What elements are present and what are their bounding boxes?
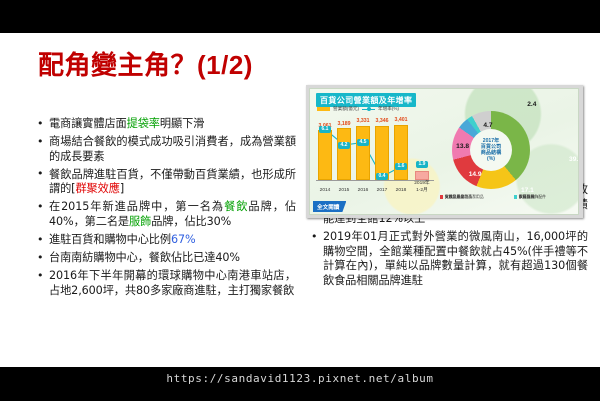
infographic-canvas: 百貨公司營業額及年增率 營業額(億元) 年增率(%) 3,0616.120143… bbox=[309, 88, 579, 215]
pie-value-label: 14.9 bbox=[469, 171, 482, 178]
bullet-text-segment: 餐飲 bbox=[224, 200, 248, 213]
pie-value-label: 2.4 bbox=[527, 101, 536, 108]
bullet-text-segment: 商場結合餐飲的模式成功吸引消費者，成為營業額的成長要素 bbox=[49, 135, 296, 163]
pie-chart-center-label: 2017年 百貨公司 商品結構 (%) bbox=[470, 129, 512, 171]
bullet-item-right-2: 2019年01月正式對外營業的微風南山，16,000坪的購物空間，全館業種配置中… bbox=[308, 230, 588, 288]
full-text-tab[interactable]: 全文閱讀 bbox=[313, 201, 346, 212]
bar-chart-plot: 3,0616.120143,1894.220153,3314.520163,34… bbox=[316, 115, 436, 193]
pie-legend-item: 化妝品及化粧清潔用品 bbox=[440, 194, 484, 199]
bar-category-label: 2018 bbox=[390, 188, 412, 193]
bar-value-label: 3,401 bbox=[388, 117, 414, 123]
growth-rate-label: 6.1 bbox=[319, 126, 331, 133]
pie-value-label: 39.0 bbox=[569, 156, 579, 163]
bar-rect bbox=[337, 128, 351, 180]
legend-swatch-growth bbox=[362, 107, 375, 111]
watermark-url: https://sandavid1123.pixnet.net/album bbox=[0, 372, 600, 385]
bullet-text-segment: 明顯下滑 bbox=[160, 117, 204, 130]
bullet-text-segment: 在2015年新進品牌中，第一名為 bbox=[49, 200, 224, 213]
pie-title-line-4: (%) bbox=[487, 156, 495, 162]
bar-rect bbox=[375, 126, 389, 180]
bar-rect bbox=[394, 125, 408, 180]
bar-rect bbox=[356, 126, 370, 180]
growth-rate-label: 4.2 bbox=[338, 142, 350, 149]
bar-chart-legend: 營業額(億元) 年增率(%) bbox=[317, 106, 399, 112]
legend-label-growth: 年增率(%) bbox=[378, 106, 399, 112]
pie-legend-label: 飲料照明 bbox=[519, 194, 535, 199]
bullet-text-segment: 品牌，佔比30% bbox=[151, 215, 231, 228]
bullet-text-segment: 電商讓實體店面 bbox=[49, 117, 127, 130]
bullet-item-left-7: 2016年下半年開幕的環球購物中心南港車站店，占地2,600坪，共80多家廠商進… bbox=[34, 269, 296, 298]
pie-value-label: 17.1 bbox=[521, 187, 534, 194]
bullet-text-segment: 67% bbox=[171, 233, 196, 246]
pie-value-label: 13.8 bbox=[456, 143, 469, 150]
bullet-text-segment: ] bbox=[120, 182, 124, 195]
growth-rate-label: 1.9 bbox=[416, 161, 428, 168]
page-title: 配角變主角？(1/2) bbox=[38, 45, 253, 82]
pie-legend-item: 飲料照明 bbox=[514, 194, 534, 199]
bullet-item-left-1: 電商讓實體店面提袋率明顯下滑 bbox=[34, 117, 296, 132]
pie-value-label: 4.7 bbox=[483, 122, 492, 129]
bullet-text-segment: 台南南紡購物中心，餐飲佔比已達40% bbox=[49, 251, 240, 264]
bullet-text-segment: 2016年下半年開幕的環球購物中心南港車站店，占地2,600坪，共80多家廠商進… bbox=[49, 269, 296, 297]
bullet-item-left-3: 餐飲品牌進駐百貨，不僅帶動百貨業績，也形成所謂的[群聚效應] bbox=[34, 168, 296, 197]
bullet-item-left-2: 商場結合餐飲的模式成功吸引消費者，成為營業額的成長要素 bbox=[34, 135, 296, 164]
legend-label-revenue: 營業額(億元) bbox=[333, 106, 359, 112]
bullet-text-segment: 提袋率 bbox=[127, 117, 160, 130]
growth-rate-label: 4.5 bbox=[357, 139, 369, 146]
presentation-slide: 配角變主角？(1/2) 電商讓實體店面提袋率明顯下滑商場結合餐飲的模式成功吸引消… bbox=[0, 33, 600, 367]
bullet-text-segment: 服飾 bbox=[129, 215, 151, 228]
bar-chart-title: 百貨公司營業額及年增率 bbox=[316, 93, 416, 107]
left-bullet-list: 電商讓實體店面提袋率明顯下滑商場結合餐飲的模式成功吸引消費者，成為營業額的成長要… bbox=[34, 117, 296, 302]
growth-rate-label: 0.4 bbox=[376, 173, 388, 180]
bullet-item-left-5: 進駐百貨和購物中心比例67% bbox=[34, 233, 296, 248]
bullet-item-left-4: 在2015年新進品牌中，第一名為餐飲品牌，佔40%，第二名是服飾品牌，佔比30% bbox=[34, 200, 296, 229]
bar-category-label: 2019年1-2月 bbox=[411, 179, 433, 193]
bar-rect bbox=[318, 130, 332, 180]
legend-swatch-revenue bbox=[317, 107, 330, 111]
bullet-text-segment: 進駐百貨和購物中心比例 bbox=[49, 233, 171, 246]
bullet-item-left-6: 台南南紡購物中心，餐飲佔比已達40% bbox=[34, 251, 296, 266]
bullet-text-segment: 2019年01月正式對外營業的微風南山，16,000坪的購物空間，全館業種配置中… bbox=[323, 230, 588, 287]
pie-legend-label: 化妝品及化粧清潔用品 bbox=[445, 194, 484, 199]
infographic-image[interactable]: 百貨公司營業額及年增率 營業額(億元) 年增率(%) 3,0616.120143… bbox=[306, 85, 583, 218]
screenshot-viewport: 配角變主角？(1/2) 電商讓實體店面提袋率明顯下滑商場結合餐飲的模式成功吸引消… bbox=[0, 0, 600, 401]
growth-rate-label: 1.6 bbox=[395, 163, 407, 170]
bullet-text-segment: 群聚效應 bbox=[75, 182, 119, 195]
